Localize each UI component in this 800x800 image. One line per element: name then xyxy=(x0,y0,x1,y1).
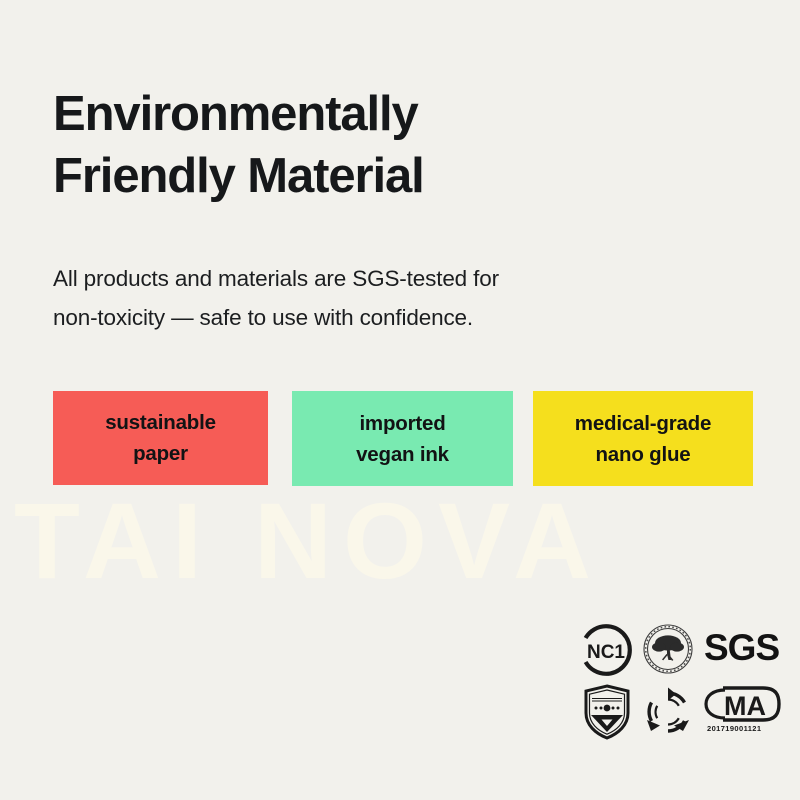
certification-logo-grid: NC1 SGS xyxy=(575,620,783,744)
material-chip-sustainable-paper: sustainable paper xyxy=(53,391,268,485)
material-chip-line-2: vegan ink xyxy=(356,439,449,470)
forest-tree-seal-icon xyxy=(642,622,694,676)
material-chip-line-1: imported xyxy=(359,408,445,439)
material-chip-line-2: nano glue xyxy=(595,439,690,470)
slide-canvas: TAI NOVA Environmentally Friendly Materi… xyxy=(0,0,800,800)
cma-certificate-number: 201719001121 xyxy=(707,724,761,733)
nc1-mark-icon: NC1 xyxy=(579,623,633,677)
material-chip-line-2: paper xyxy=(133,438,188,469)
page-title: Environmentally Friendly Material xyxy=(53,83,693,207)
shield-badge-icon xyxy=(582,684,632,740)
cma-mark-icon: MA xyxy=(701,684,781,724)
svg-text:MA: MA xyxy=(724,691,766,721)
page-subtitle-line-2: non-toxicity — safe to use with confiden… xyxy=(53,298,673,337)
brand-watermark: TAI NOVA xyxy=(14,486,800,596)
material-chip-imported-vegan-ink: imported vegan ink xyxy=(292,391,513,486)
material-chip-group: sustainable paper imported vegan ink med… xyxy=(53,391,753,486)
page-subtitle: All products and materials are SGS-teste… xyxy=(53,259,673,337)
page-subtitle-line-1: All products and materials are SGS-teste… xyxy=(53,259,673,298)
page-title-line-2: Friendly Material xyxy=(53,145,693,207)
material-chip-medical-grade-nano-glue: medical-grade nano glue xyxy=(533,391,753,486)
material-chip-line-1: sustainable xyxy=(105,407,216,438)
sgs-wordmark-text: SGS xyxy=(704,629,779,666)
svg-text:NC1: NC1 xyxy=(587,642,625,663)
page-title-line-1: Environmentally xyxy=(53,83,693,145)
recycling-arrows-icon xyxy=(643,686,693,738)
material-chip-line-1: medical-grade xyxy=(575,408,711,439)
sgs-logo-icon: SGS xyxy=(704,629,779,666)
